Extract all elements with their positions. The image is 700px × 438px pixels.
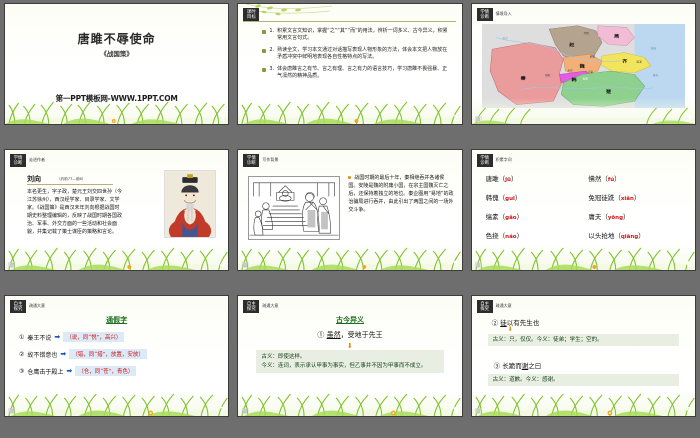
author-portrait xyxy=(164,170,216,238)
list-item-label: 体会唐雎言之有节、言之有理、言之有力的语言技巧，学习唐雎不畏强暴、正气凛然的精神… xyxy=(277,66,450,80)
entry-number: ① xyxy=(317,331,324,339)
entry-number: ③ xyxy=(494,362,501,370)
svg-text:代郡: 代郡 xyxy=(583,31,589,35)
vocab-entry: 怫然（fú） xyxy=(588,173,687,183)
vocab-entry: 色挠（náo） xyxy=(486,230,585,240)
svg-text:新郑: 新郑 xyxy=(582,77,588,81)
entry-heading: ① 虽然，受地于先王 xyxy=(238,330,461,340)
grass-decoration xyxy=(5,390,228,416)
svg-text:赵: 赵 xyxy=(568,41,575,47)
meaning-note: 古义：即使这样。 今义：连词，表示承认甲事为事实，但乙事并不因为甲事而不成立。 xyxy=(256,350,443,373)
slide-badge: 学情 诊断 积累字词 xyxy=(477,154,512,167)
slide-cell-5[interactable]: 学情 诊断 写作背景 xyxy=(233,146,466,292)
status-icon: ▣ xyxy=(8,406,16,415)
entry-heading-3: ③ 长跪而谢之曰 xyxy=(494,360,542,370)
vocabulary-grid: 唐雎（jū） 怫然（fú） 韩傀（guī） 免冠徒跣（xiǎn） 缟素（gǎo）… xyxy=(486,173,687,240)
item-sentence: 仓鹰击于殿上 xyxy=(27,367,63,376)
header-divider xyxy=(243,21,455,22)
list-item: 3. 体会唐雎言之有节、言之有理、言之有力的语言技巧，学习唐雎不畏强暴、正气凛然… xyxy=(262,66,449,80)
badge-sublabel: 疏通大意 xyxy=(29,304,45,309)
warring-states-map: 赵 燕 齐 魏 韩 秦 楚 黄河 渤海 黄海 邯郸 xyxy=(482,24,685,108)
slide-badge: 课时目标 xyxy=(243,8,259,21)
vocab-entry: 以头抢地（qiāng） xyxy=(588,230,687,240)
grass-decoration xyxy=(238,244,461,270)
vocab-entry: 庸夫（yōng） xyxy=(588,211,687,221)
vocab-pinyin: náo xyxy=(505,234,516,240)
grass-decoration xyxy=(5,98,228,124)
objectives-list: 1. 积累文言文知识，掌握“之”“其”“而”的用法，辨析一词多义、古今异义，积累… xyxy=(262,28,449,85)
list-item-label: 熟读全文，学习本文通过对话描写表现人物形象的方法，体会本文把人物放在矛盾冲突中鲜… xyxy=(277,47,450,61)
svg-text:咸阳: 咸阳 xyxy=(545,73,551,77)
vocab-pinyin: jū xyxy=(505,177,511,183)
svg-text:黄河: 黄河 xyxy=(502,36,508,40)
svg-text:渤海: 渤海 xyxy=(650,46,656,50)
section-heading: 通假字 xyxy=(5,315,228,325)
list-item: 1. 积累文言文知识，掌握“之”“其”“而”的用法，辨析一词多义、古今异义，积累… xyxy=(262,28,449,42)
arrow-down-icon: ⬇ xyxy=(508,326,513,333)
slide-number: 4 xyxy=(220,260,226,269)
list-item: 2. 熟读全文，学习本文通过对话描写表现人物形象的方法，体会本文把人物放在矛盾冲… xyxy=(262,47,449,61)
vocab-pinyin: qiāng xyxy=(621,234,638,240)
svg-text:齐: 齐 xyxy=(622,58,627,64)
slide-cell-6[interactable]: 学情 诊断 积累字词 唐雎（jū） 怫然（fú） 韩傀（guī） 免冠徒跣（xi… xyxy=(467,146,700,292)
item-number: ② xyxy=(19,351,24,358)
svg-text:燕: 燕 xyxy=(614,33,619,39)
slide-badge: 自主 探究 疏通大意 xyxy=(477,300,512,313)
item-number: ③ xyxy=(19,368,24,375)
slide-cell-4[interactable]: 学情 诊断 走进作者 刘向 （约前77—前6） 本名更生，字子政，楚元王刘交四世… xyxy=(0,146,233,292)
badge-label: 学情 诊断 xyxy=(477,154,493,167)
badge-sublabel: 疏通大意 xyxy=(496,304,512,309)
slide-number: 2 xyxy=(453,114,459,123)
vocab-entry: 免冠徒跣（xiǎn） xyxy=(588,192,687,202)
status-icon: ▣ xyxy=(241,260,249,269)
entry-suffix: 之曰 xyxy=(528,362,541,370)
svg-text:楚: 楚 xyxy=(605,88,612,94)
vocab-word: 缟素 xyxy=(486,213,499,221)
list-item: ② 故不错意也 ➡ （错，同“措”，放置，安放） xyxy=(19,349,220,359)
list-item-number: 3. xyxy=(269,66,274,80)
slide-badge: 自主 探究 疏通大意 xyxy=(243,300,278,313)
historical-illustration xyxy=(248,176,340,240)
svg-text:魏: 魏 xyxy=(578,63,585,69)
slide-badge: 学情 诊断 情境导入 xyxy=(477,8,512,21)
meaning-note-3: 古义：道歉。今义：感谢。 xyxy=(488,374,679,386)
badge-sublabel: 疏通大意 xyxy=(262,304,278,309)
slide-1[interactable]: 唐雎不辱使命 《战国策》 第一PPT模板网-WWW.1PPT.COM xyxy=(4,3,229,125)
svg-text:秦: 秦 xyxy=(520,75,525,81)
badge-label: 学情 诊断 xyxy=(477,8,493,21)
grass-decoration xyxy=(472,244,695,270)
bullet-icon xyxy=(262,49,266,53)
item-explanation: （说，同“悦”，高兴） xyxy=(63,332,124,342)
slide-8[interactable]: 自主 探究 疏通大意 古今异义 ① 虽然，受地于先王 ⬇ 古义：即使这样。 今义… xyxy=(237,295,462,417)
badge-label: 自主 探究 xyxy=(477,300,493,313)
slide-cell-8[interactable]: 自主 探究 疏通大意 古今异义 ① 虽然，受地于先王 ⬇ 古义：即使这样。 今义… xyxy=(233,292,466,438)
slide-cell-2[interactable]: 课时目标 1. 积累文言文知识，掌握“之”“其”“而”的用法，辨析一词多义、古今… xyxy=(233,0,466,146)
tongjiazi-list: ① 秦王不说 ➡ （说，同“悦”，高兴） ② 故不错意也 ➡ （错，同“措”，放… xyxy=(19,332,220,383)
status-icon: ▣ xyxy=(475,406,483,415)
slide-number: 5 xyxy=(453,260,459,269)
badge-sublabel: 走进作者 xyxy=(29,158,45,163)
slide-3[interactable]: 学情 诊断 情境导入 xyxy=(471,3,696,125)
svg-text:大梁: 大梁 xyxy=(587,70,593,74)
badge-label: 学情 诊断 xyxy=(10,154,26,167)
grass-decoration xyxy=(472,98,695,124)
author-name: 刘向 xyxy=(27,174,41,184)
slide-6[interactable]: 学情 诊断 积累字词 唐雎（jū） 怫然（fú） 韩傀（guī） 免冠徒跣（xi… xyxy=(471,149,696,271)
grass-decoration xyxy=(238,390,461,416)
author-biography: 本名更生，字子政，楚元王刘交四世孙（今江苏徐州），西汉经学家、目录学家、文学家。… xyxy=(27,188,123,236)
arrow-right-icon: ➡ xyxy=(60,350,66,358)
svg-text:邯郸: 邯郸 xyxy=(589,55,595,59)
badge-sublabel: 写作背景 xyxy=(262,158,278,163)
background-text: 战国时期的最后十年，秦相继吞并各诸侯国。安陵是魏的附庸小国，在宗主国魏灭亡之后，… xyxy=(348,175,453,213)
grass-decoration xyxy=(472,390,695,416)
vocab-word: 韩傀 xyxy=(486,194,499,202)
list-item-number: 1. xyxy=(269,28,274,42)
slide-badge: 学情 诊断 写作背景 xyxy=(243,154,278,167)
vocab-entry: 唐雎（jū） xyxy=(486,173,585,183)
badge-label: 学情 诊断 xyxy=(243,154,259,167)
slide-badge: 学情 诊断 走进作者 xyxy=(10,154,45,167)
slide-number: 7 xyxy=(220,406,226,415)
slide-number: 3 xyxy=(686,114,692,123)
entry-number: ② xyxy=(492,319,499,327)
vocab-entry: 缟素（gǎo） xyxy=(486,211,585,221)
background-text-wrap: 战国时期的最后十年，秦相继吞并各诸侯国。安陵是魏的附庸小国，在宗主国魏灭亡之后，… xyxy=(348,174,453,214)
item-explanation: （错，同“措”，放置，安放） xyxy=(69,349,147,359)
vocab-pinyin: guī xyxy=(505,196,515,202)
vocab-word: 以头抢地 xyxy=(588,232,614,240)
vocab-pinyin: yōng xyxy=(608,215,623,221)
status-icon: ▣ xyxy=(241,406,249,415)
page-title: 唐雎不辱使命 xyxy=(5,30,228,47)
list-item: ① 秦王不说 ➡ （说，同“悦”，高兴） xyxy=(19,332,220,342)
entry-prefix: 长跪而 xyxy=(502,362,522,370)
slide-number: 8 xyxy=(453,406,459,415)
slide-4[interactable]: 学情 诊断 走进作者 刘向 （约前77—前6） 本名更生，字子政，楚元王刘交四世… xyxy=(4,149,229,271)
slide-cell-9[interactable]: 自主 探究 疏通大意 ② 徒以有先生也 ⬇ 古义：只，仅仅。今义：徒弟；学生；空… xyxy=(467,292,700,438)
author-dates: （约前77—前6） xyxy=(57,177,85,182)
slide-2[interactable]: 课时目标 1. 积累文言文知识，掌握“之”“其”“而”的用法，辨析一词多义、古今… xyxy=(237,3,462,125)
slide-number: 9 xyxy=(686,406,692,415)
badge-sublabel: 积累字词 xyxy=(496,158,512,163)
meaning-note-2: 古义：只，仅仅。今义：徒弟；学生；空的。 xyxy=(488,334,679,346)
item-sentence: 秦王不说 xyxy=(27,333,51,342)
vocab-word: 色挠 xyxy=(486,232,499,240)
bullet-icon xyxy=(348,176,351,179)
vocab-pinyin: fú xyxy=(608,177,614,183)
entry-rest: ，受地于先王 xyxy=(341,331,383,339)
item-sentence: 故不错意也 xyxy=(27,350,57,359)
svg-text:临淄: 临淄 xyxy=(636,60,642,64)
vocab-pinyin: gǎo xyxy=(505,215,516,221)
badge-label: 自主 探究 xyxy=(243,300,259,313)
vocab-word: 唐雎 xyxy=(486,175,499,183)
slide-cell-3[interactable]: 学情 诊断 情境导入 xyxy=(467,0,700,146)
arrow-right-icon: ➡ xyxy=(54,333,60,341)
bullet-icon xyxy=(262,68,266,72)
bullet-icon xyxy=(262,30,266,34)
slide-7[interactable]: 自主 探究 疏通大意 通假字 ① 秦王不说 ➡ （说，同“悦”，高兴） ② 故不… xyxy=(4,295,229,417)
slide-grid: 唐雎不辱使命 《战国策》 第一PPT模板网-WWW.1PPT.COM xyxy=(0,0,700,438)
old-meaning: 古义：即使这样。 xyxy=(261,353,438,362)
list-item: ③ 仓鹰击于殿上 ➡ （仓，同“苍”，青色） xyxy=(19,366,220,376)
badge-label: 自主 探究 xyxy=(10,300,26,313)
grass-decoration xyxy=(5,244,228,270)
entry-word: 虽然 xyxy=(327,331,341,339)
badge-sublabel: 情境导入 xyxy=(496,12,512,17)
slide-cell-7[interactable]: 自主 探究 疏通大意 通假字 ① 秦王不说 ➡ （说，同“悦”，高兴） ② 故不… xyxy=(0,292,233,438)
grass-decoration xyxy=(238,98,461,124)
section-heading: 古今异义 xyxy=(238,315,461,325)
slide-5[interactable]: 学情 诊断 写作背景 xyxy=(237,149,462,271)
page-subtitle: 《战国策》 xyxy=(5,48,228,58)
vocab-entry: 韩傀（guī） xyxy=(486,192,585,202)
svg-text:安邑: 安邑 xyxy=(567,68,573,72)
list-item-number: 2. xyxy=(269,47,274,61)
status-icon: ▣ xyxy=(8,260,16,269)
slide-number: 1 xyxy=(220,114,226,123)
arrow-right-icon: ➡ xyxy=(66,367,72,375)
badge-label: 课时目标 xyxy=(243,8,259,21)
vocab-word: 怫然 xyxy=(588,175,601,183)
vocab-word: 免冠徒跣 xyxy=(588,194,614,202)
svg-text:韩: 韩 xyxy=(571,77,576,83)
item-number: ① xyxy=(19,334,24,341)
slide-9[interactable]: 自主 探究 疏通大意 ② 徒以有先生也 ⬇ 古义：只，仅仅。今义：徒弟；学生；空… xyxy=(471,295,696,417)
entry-heading-2: ② 徒以有先生也 xyxy=(492,317,540,327)
title-underline xyxy=(27,184,113,185)
vocab-pinyin: xiǎn xyxy=(621,196,634,202)
item-explanation: （仓，同“苍”，青色） xyxy=(75,366,136,376)
slide-number: 6 xyxy=(686,260,692,269)
list-item-label: 积累文言文知识，掌握“之”“其”“而”的用法，辨析一词多义、古今异义，积累常用文… xyxy=(277,28,450,42)
arrow-down-icon: ⬇ xyxy=(238,342,461,350)
status-icon: ▣ xyxy=(475,260,483,269)
slide-cell-1[interactable]: 唐雎不辱使命 《战国策》 第一PPT模板网-WWW.1PPT.COM xyxy=(0,0,233,146)
svg-text:黄海: 黄海 xyxy=(652,73,658,77)
new-meaning: 今义：连词，表示承认甲事为事实，但乙事并不因为甲事而不成立。 xyxy=(261,362,438,371)
vocab-word: 庸夫 xyxy=(588,213,601,221)
status-icon: ▣ xyxy=(475,114,483,123)
slide-badge: 自主 探究 疏通大意 xyxy=(10,300,45,313)
